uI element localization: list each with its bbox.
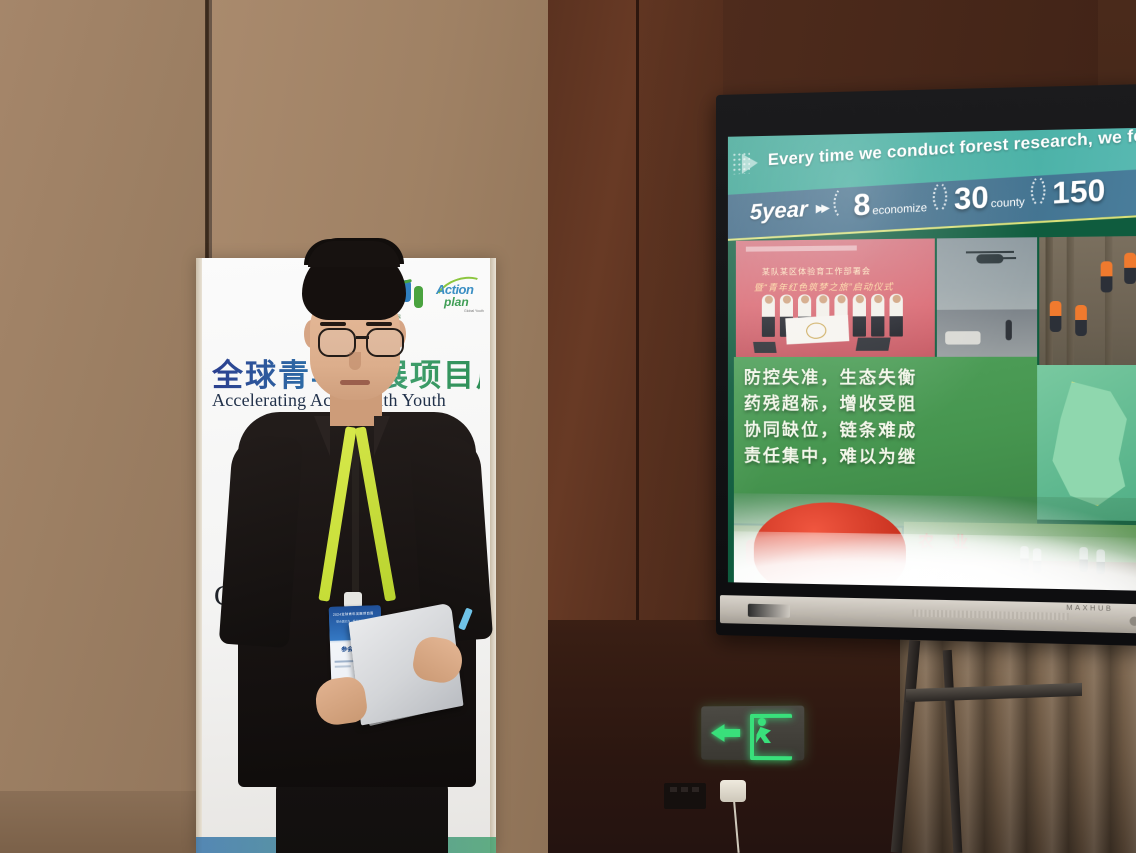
presenter-collar-left [314, 416, 330, 456]
ceremony-caption-1: 某队某区体验育工作部署会 [762, 266, 871, 278]
power-plug [720, 780, 746, 802]
slide-body-text-cn: 防控失准，生态失衡 药残超标，增收受阻 协同缺位，链条难成 责任集中，难以为继 [744, 365, 1041, 472]
glasses-lens-right-icon [366, 328, 404, 357]
badge-header-text: 2024全球青年发展项目周 [333, 610, 374, 616]
stat-2-unit: county [991, 196, 1025, 210]
wall-power-outlet[interactable] [664, 783, 706, 809]
wall-display[interactable]: 某队某区体验育工作部署会 暨“青年红色筑梦之旅”启动仪式 [716, 84, 1136, 646]
presenter-arm-left [219, 434, 303, 648]
slide-line-1: 防控失准，生态失衡 [744, 365, 1041, 392]
smoke-cloud [734, 531, 1136, 591]
glasses-bridge-icon [356, 336, 369, 339]
stat-1-unit: economize [872, 202, 927, 217]
conference-room-photo: 青年发展 Action plan Global Youth 全球青年发展项目周 … [0, 0, 1136, 853]
stat-2-number: 30 [954, 181, 989, 218]
display-screen[interactable]: 某队某区体验育工作部署会 暨“青年红色筑梦之旅”启动仪式 [728, 128, 1136, 591]
slide-line-2: 药残超标，增收受阻 [744, 391, 1041, 419]
header-chevron-icon [742, 153, 758, 174]
slide-photo-ceremony: 某队某区体验育工作部署会 暨“青年红色筑梦之旅”启动仪式 [736, 238, 935, 359]
slide-line-3: 协同缺位，链条难成 [744, 417, 1041, 445]
left-arrow-tail [723, 729, 741, 737]
power-button[interactable] [1130, 616, 1136, 626]
presenter-collar-right [374, 416, 390, 456]
display-brand-label: MAXHUB [1066, 605, 1113, 613]
running-man-head-icon [758, 718, 766, 726]
slide-photo-smoke-foreground [734, 493, 1136, 591]
presenter-brow-right [366, 322, 392, 326]
presenter: 2024全球青年发展项目周 联合国主办 · 青年发展项目 参会代表 [218, 240, 498, 853]
stat-item-3: 150 [1052, 174, 1105, 212]
ceremony-caption-2: 暨“青年红色筑梦之旅”启动仪式 [754, 280, 894, 294]
stat-duration: 5year [750, 196, 808, 226]
ir-sensor [748, 604, 790, 618]
emergency-exit-sign [701, 706, 804, 761]
helicopter-rotor-icon [966, 251, 1014, 254]
stat-arrow-icon: ▸▸ [816, 198, 827, 219]
display-speaker-grille [912, 609, 1069, 620]
presenter-hair [302, 248, 406, 320]
slide-header-text: Every time we conduct forest research, w… [768, 128, 1136, 170]
ceremony-flag [785, 315, 849, 345]
stat-item-1: 8 economize [853, 185, 927, 224]
presenter-brow-left [320, 322, 346, 326]
exit-door-icon [750, 714, 792, 761]
slide-line-4: 责任集中，难以为继 [744, 443, 1041, 472]
stat-item-2: 30 county [954, 179, 1025, 218]
presenter-nose [349, 352, 361, 370]
curtain [900, 630, 1136, 853]
wall-panel-left [0, 0, 208, 853]
presentation-slide: 某队某区体验育工作部署会 暨“青年红色筑梦之旅”启动仪式 [728, 128, 1136, 591]
slide-photo-helicopter [937, 237, 1037, 359]
stat-3-number: 150 [1052, 174, 1105, 212]
banner-edge-left [196, 258, 202, 853]
presenter-legs [276, 776, 448, 853]
presenter-mouth [340, 380, 370, 385]
region-map-outline [1048, 382, 1129, 507]
wall-baseboard [0, 791, 212, 853]
